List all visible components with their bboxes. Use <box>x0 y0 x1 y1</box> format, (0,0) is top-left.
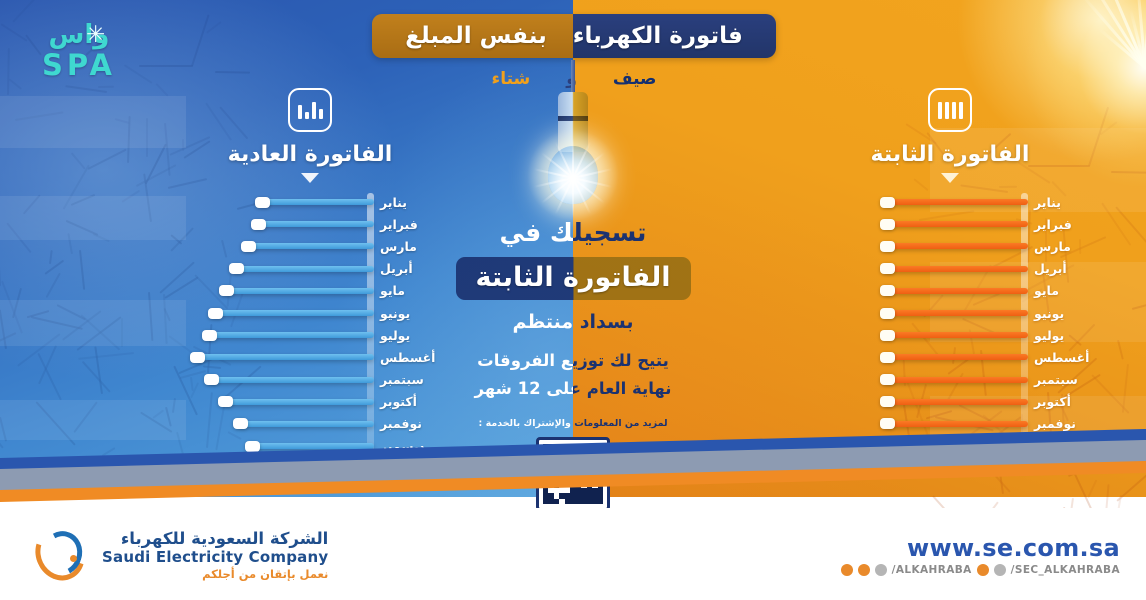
equal-bars-icon <box>928 88 972 132</box>
chart-bar <box>256 221 374 227</box>
chart-bar <box>238 421 374 427</box>
bar-track <box>160 235 376 257</box>
bar-end-cap <box>880 241 895 252</box>
month-label: سبتمبر <box>1030 372 1100 387</box>
bar-track <box>800 391 1030 413</box>
bar-end-cap <box>204 374 219 385</box>
fixed-bill-panel: الفاتورة الثابتة ينايرفبرايرمارسأبريلماي… <box>800 88 1100 457</box>
title-part-left: بنفس المبلغ <box>396 23 556 49</box>
month-label: مايو <box>1030 283 1100 298</box>
bar-end-cap <box>880 352 895 363</box>
footer: الشركة السعودية للكهرباء Saudi Electrici… <box>0 508 1146 600</box>
subtitle-winter: شتاء <box>492 69 531 89</box>
chart-bar <box>885 243 1028 249</box>
chart-bar <box>224 288 374 294</box>
chart-row: أبريل <box>800 258 1100 280</box>
subtitle-summer: صيف <box>613 69 657 89</box>
bar-track <box>800 324 1030 346</box>
bar-end-cap <box>880 285 895 296</box>
snapchat-icon[interactable] <box>994 564 1006 576</box>
bar-end-cap <box>251 219 266 230</box>
fixed-bill-chart: ينايرفبرايرمارسأبريلمايويونيويوليوأغسطسس… <box>800 191 1100 457</box>
month-label: نوفمبر <box>1030 416 1100 431</box>
chart-bar <box>234 266 374 272</box>
bar-track <box>160 258 376 280</box>
light-bulb-icon <box>540 60 606 230</box>
bar-end-cap <box>880 219 895 230</box>
bar-track <box>800 302 1030 324</box>
chart-bar <box>885 221 1028 227</box>
company-name-arabic: الشركة السعودية للكهرباء <box>102 529 328 548</box>
bar-track <box>800 235 1030 257</box>
bulb-cord <box>571 60 575 94</box>
chart-bar <box>207 332 374 338</box>
bar-end-cap <box>880 197 895 208</box>
sec-logo-mark-icon <box>30 524 92 586</box>
center-line-1: تسجيلك في <box>403 218 743 247</box>
bar-end-cap <box>880 263 895 274</box>
chart-row: أكتوبر <box>800 391 1100 413</box>
page-title: فاتورة الكهرباء بنفس المبلغ <box>372 14 776 58</box>
instagram-icon[interactable] <box>875 564 887 576</box>
bar-end-cap <box>880 374 895 385</box>
month-label: مارس <box>1030 239 1100 254</box>
center-line-3: بسداد منتظم <box>403 311 743 333</box>
chart-row: يونيو <box>800 302 1100 324</box>
bar-end-cap <box>245 441 260 452</box>
bar-end-cap <box>202 330 217 341</box>
bar-end-cap <box>880 330 895 341</box>
bar-track <box>800 213 1030 235</box>
web-and-social: www.se.com.sa /ALKAHRABA /SEC_ALKAHRABA <box>841 534 1120 576</box>
bar-track <box>160 191 376 213</box>
month-label: يناير <box>376 195 460 210</box>
twitter-icon[interactable] <box>841 564 853 576</box>
bar-end-cap <box>190 352 205 363</box>
youtube-icon[interactable] <box>977 564 989 576</box>
month-label: أغسطس <box>1030 350 1100 365</box>
chart-bar <box>213 310 374 316</box>
bar-end-cap <box>229 263 244 274</box>
chart-row: سبتمبر <box>800 369 1100 391</box>
bulb-ring <box>558 116 588 121</box>
bar-track <box>800 191 1030 213</box>
chart-bar <box>246 243 374 249</box>
bar-end-cap <box>218 396 233 407</box>
bar-track <box>160 391 376 413</box>
chart-row: فبراير <box>800 213 1100 235</box>
bar-track <box>800 346 1030 368</box>
chart-bar <box>885 354 1028 360</box>
center-note: لمزيد من المعلومات والإشتراك بالخدمة : <box>403 418 743 429</box>
bar-track <box>800 258 1030 280</box>
chart-bar <box>885 377 1028 383</box>
chart-bar <box>885 399 1028 405</box>
bar-end-cap <box>241 241 256 252</box>
caret-down-icon <box>941 173 959 183</box>
chart-bar <box>885 199 1028 205</box>
sec-logo: الشركة السعودية للكهرباء Saudi Electrici… <box>30 524 328 586</box>
bar-end-cap <box>880 396 895 407</box>
chart-row: مارس <box>800 235 1100 257</box>
chart-bar <box>260 199 374 205</box>
chart-bar <box>885 310 1028 316</box>
chart-bar <box>885 288 1028 294</box>
social-handle-2: /SEC_ALKAHRABA <box>1011 564 1120 576</box>
chart-bar <box>885 421 1028 427</box>
social-row: /ALKAHRABA /SEC_ALKAHRABA <box>841 564 1120 576</box>
month-label: يوليو <box>1030 328 1100 343</box>
bar-end-cap <box>880 418 895 429</box>
chart-bar <box>209 377 374 383</box>
bar-track <box>160 413 376 435</box>
center-highlight: الفاتورة الثابتة <box>456 257 691 300</box>
caret-down-icon <box>301 173 319 183</box>
infographic-poster: واس ✳ SPA فاتورة الكهرباء بنفس المبلغ صي… <box>0 0 1146 600</box>
month-label: فبراير <box>1030 217 1100 232</box>
chart-row: أغسطس <box>800 346 1100 368</box>
chart-bar <box>223 399 374 405</box>
month-label: أكتوبر <box>1030 394 1100 409</box>
fixed-bill-title: الفاتورة الثابتة <box>800 142 1100 167</box>
bar-track <box>160 346 376 368</box>
palm-swords-emblem-icon: ✳ <box>86 24 105 47</box>
chart-bar <box>195 354 374 360</box>
bar-end-cap <box>208 308 223 319</box>
title-part-right: فاتورة الكهرباء <box>564 23 752 49</box>
social-handle-1: /ALKAHRABA <box>892 564 972 576</box>
bar-track <box>160 302 376 324</box>
chart-row: يوليو <box>800 324 1100 346</box>
bar-end-cap <box>880 308 895 319</box>
chart-row: يناير <box>160 191 460 213</box>
month-label: أبريل <box>1030 261 1100 276</box>
bar-track <box>160 324 376 346</box>
bar-track <box>800 413 1030 435</box>
bar-chart-icon <box>288 88 332 132</box>
bar-end-cap <box>255 197 270 208</box>
center-body-line-2: نهاية العام على 12 شهر <box>403 376 743 402</box>
chart-row: مايو <box>800 280 1100 302</box>
company-name-english: Saudi Electricity Company <box>102 548 328 566</box>
facebook-icon[interactable] <box>858 564 870 576</box>
bar-track <box>160 280 376 302</box>
month-label: يونيو <box>1030 306 1100 321</box>
spa-logo-latin: SPA <box>42 51 116 80</box>
spa-logo: واس ✳ SPA <box>42 22 116 80</box>
bar-end-cap <box>219 285 234 296</box>
chart-bar <box>885 332 1028 338</box>
regular-bill-title: الفاتورة العادية <box>160 142 460 167</box>
company-tagline: نعمل بإتقان من أجلكم <box>102 567 328 581</box>
bar-track <box>160 213 376 235</box>
bar-end-cap <box>233 418 248 429</box>
bar-track <box>160 369 376 391</box>
center-body-line-1: يتيح لك توزيع الفروقات <box>403 348 743 374</box>
website-url[interactable]: www.se.com.sa <box>841 534 1120 562</box>
chart-row: يناير <box>800 191 1100 213</box>
page-title-text: فاتورة الكهرباء بنفس المبلغ <box>396 23 752 49</box>
chart-bar <box>885 266 1028 272</box>
bar-track <box>800 369 1030 391</box>
bar-track <box>800 280 1030 302</box>
month-label: يناير <box>1030 195 1100 210</box>
